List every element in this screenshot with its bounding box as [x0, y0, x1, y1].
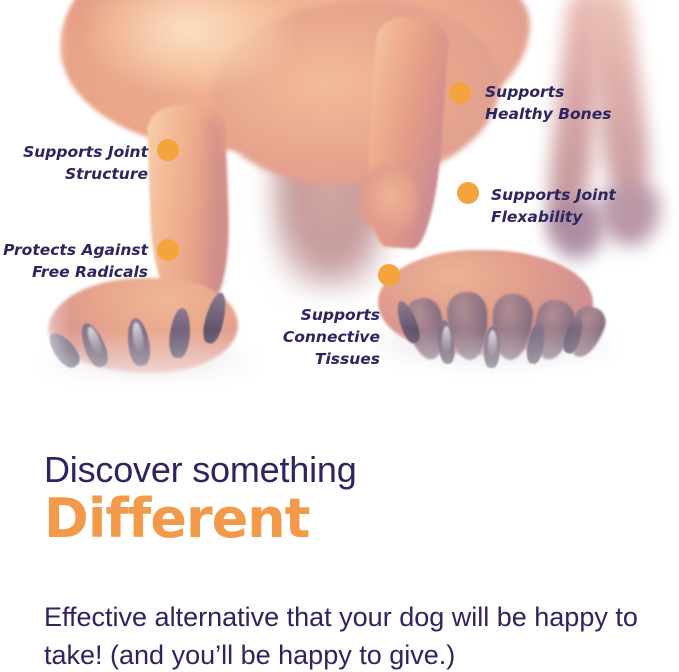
dog-left-leg-shading	[196, 120, 226, 300]
right-paw-claw-sheen-2	[488, 330, 497, 358]
callout-dot-protects-against-free-radicals[interactable]	[157, 239, 179, 261]
callout-line-2: Flexability	[491, 206, 676, 228]
callout-dot-supports-joint-structure[interactable]	[157, 139, 179, 161]
callout-label-supports-joint-structure: Supports Joint Structure	[8, 141, 148, 185]
headline-line-2: Different	[44, 490, 357, 547]
callout-dot-supports-joint-flexability[interactable]	[457, 182, 479, 204]
callout-line-1: Supports Joint	[491, 184, 676, 206]
dog-shoulder-highlight	[90, 0, 290, 90]
right-paw-claw-sheen-1	[442, 326, 451, 354]
callout-dot-supports-healthy-bones[interactable]	[449, 82, 471, 104]
headline-line-1: Discover something	[44, 452, 357, 488]
callout-label-supports-healthy-bones: Supports Healthy Bones	[485, 81, 670, 125]
callout-line-1: Supports	[485, 81, 670, 103]
callout-label-protects-against-free-radicals: Protects Against Free Radicals	[0, 239, 148, 283]
callout-line-1: Supports	[210, 304, 380, 326]
subcopy-text: Effective alternative that your dog will…	[44, 598, 664, 672]
callout-label-supports-connective-tissues: Supports Connective Tissues	[210, 304, 380, 370]
promo-banner: Supports Joint Structure Protects Agains…	[0, 0, 679, 672]
callout-dot-supports-connective-tissues[interactable]	[378, 264, 400, 286]
callout-label-supports-joint-flexability: Supports Joint Flexability	[491, 184, 676, 228]
callout-line-2: Free Radicals	[0, 261, 148, 283]
callout-line-3: Tissues	[210, 348, 380, 370]
callout-line-1: Protects Against	[0, 239, 148, 261]
callout-line-2: Healthy Bones	[485, 103, 670, 125]
callout-line-1: Supports Joint	[8, 141, 148, 163]
dog-right-leg-joint	[358, 165, 418, 235]
callout-line-2: Structure	[8, 163, 148, 185]
headline-block: Discover something Different	[44, 452, 357, 547]
callout-line-2: Connective	[210, 326, 380, 348]
